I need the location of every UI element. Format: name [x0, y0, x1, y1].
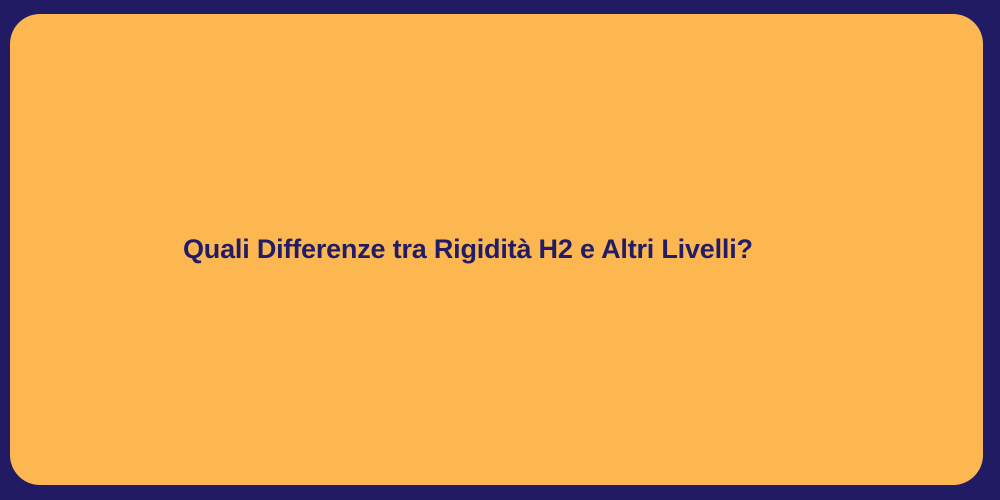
page-title: Quali Differenze tra Rigidità H2 e Altri…	[10, 233, 753, 267]
banner-card: Quali Differenze tra Rigidità H2 e Altri…	[10, 14, 983, 485]
banner-outer-frame: Quali Differenze tra Rigidità H2 e Altri…	[0, 0, 1000, 500]
